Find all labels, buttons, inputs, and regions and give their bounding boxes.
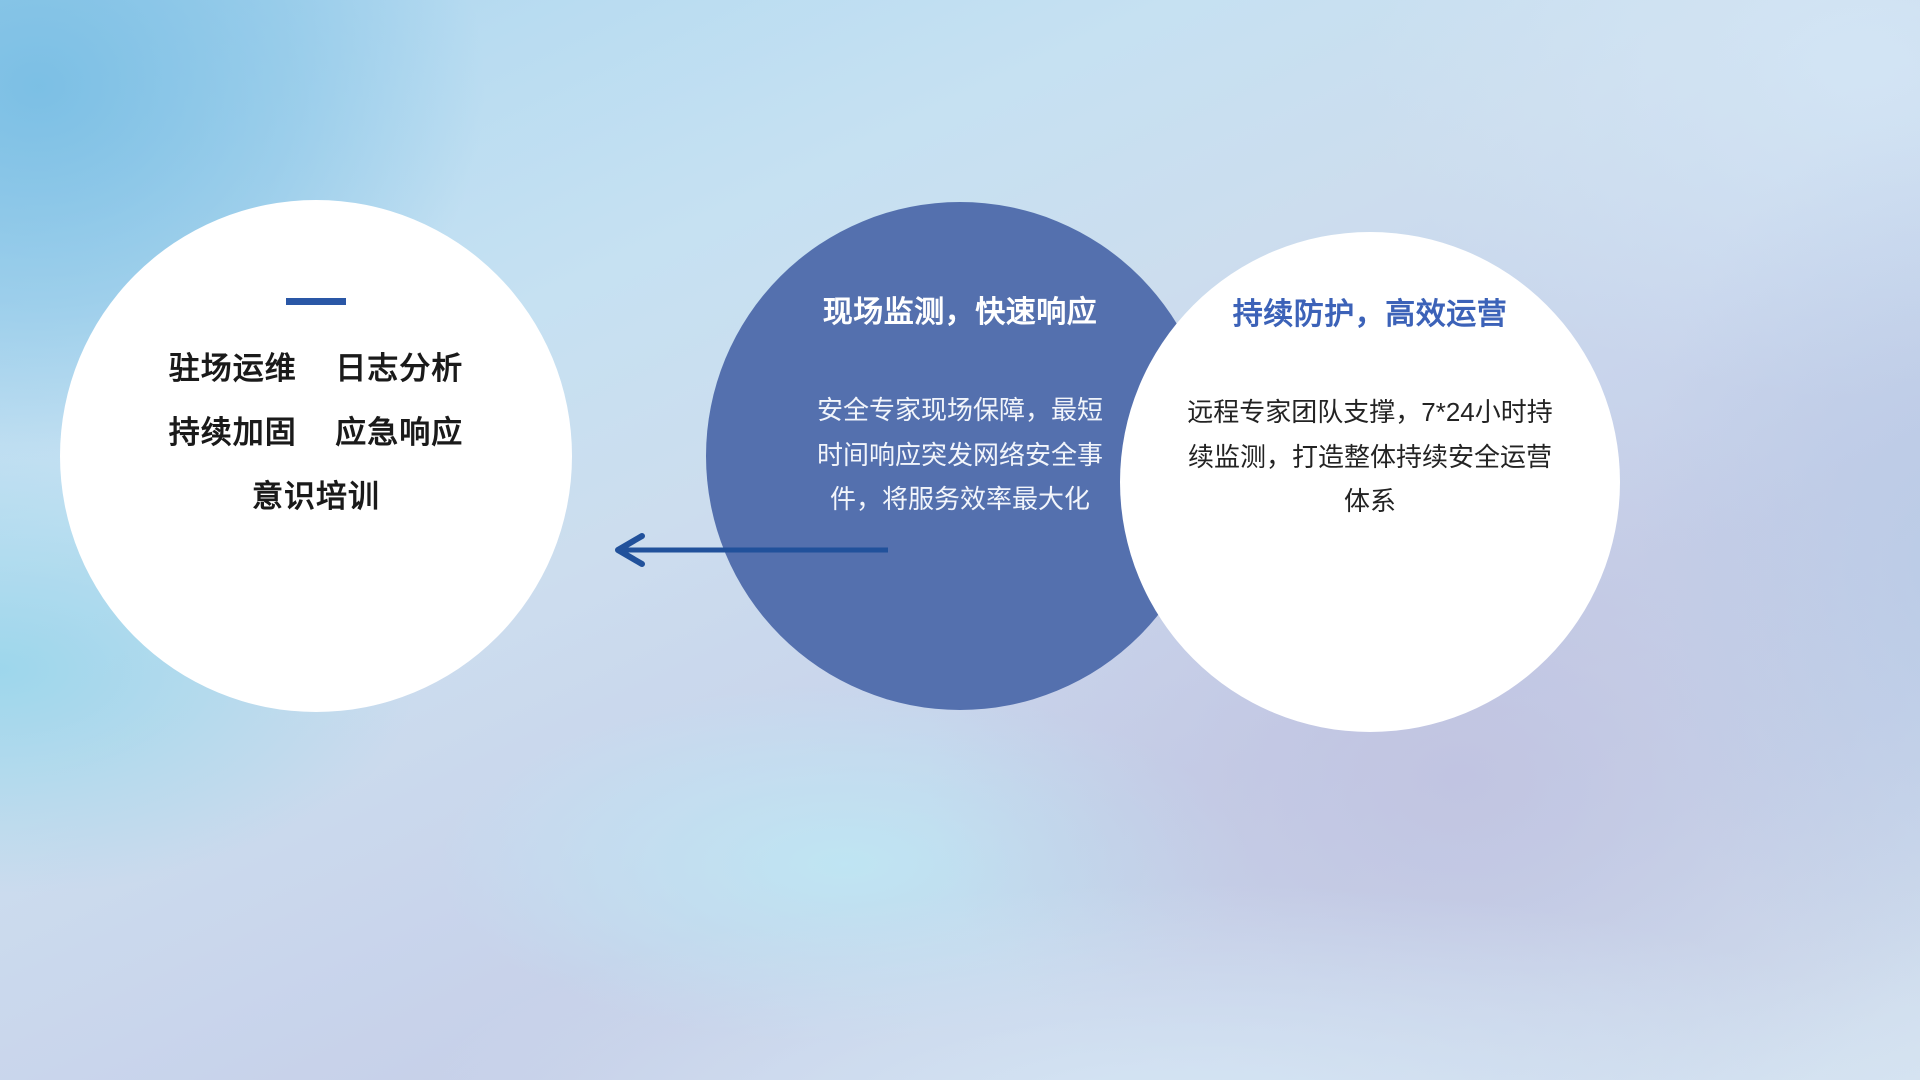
capability-content: 驻场运维 日志分析 持续加固 应急响应 意识培训 — [60, 200, 572, 512]
capability-line: 持续加固 应急响应 — [169, 417, 463, 448]
card-body: 远程专家团队支撑，7*24小时持续监测，打造整体持续安全运营体系 — [1184, 390, 1556, 524]
flow-arrow-icon — [600, 520, 890, 580]
card-title: 持续防护，高效运营 — [1233, 300, 1508, 330]
capability-line: 驻场运维 日志分析 — [169, 353, 463, 384]
card-title: 现场监测，快速响应 — [823, 298, 1098, 328]
card-content: 持续防护，高效运营 远程专家团队支撑，7*24小时持续监测，打造整体持续安全运营… — [1120, 232, 1620, 524]
card-continuous-protection: 持续防护，高效运营 远程专家团队支撑，7*24小时持续监测，打造整体持续安全运营… — [1120, 232, 1620, 732]
capability-circle: 驻场运维 日志分析 持续加固 应急响应 意识培训 — [60, 200, 572, 712]
capability-line: 意识培训 — [252, 481, 380, 512]
card-body: 安全专家现场保障，最短时间响应突发网络安全事件，将服务效率最大化 — [810, 388, 1110, 522]
accent-dash-icon — [286, 298, 346, 305]
